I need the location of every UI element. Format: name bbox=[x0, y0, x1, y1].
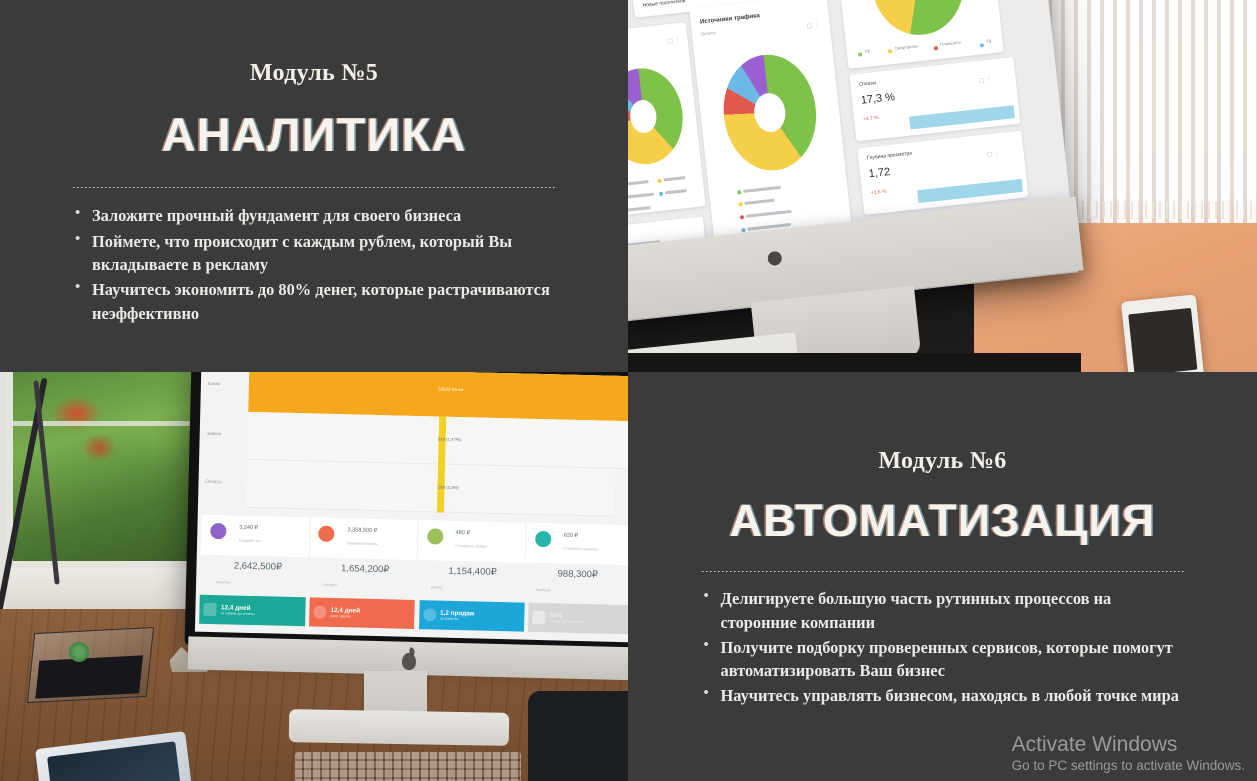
coin-icon bbox=[423, 608, 436, 621]
list-item: Получите подборку проверенных сервисов, … bbox=[702, 636, 1184, 683]
metric-delta: +1,6 % bbox=[870, 188, 886, 196]
module-panel-automation: Модуль №6 АВТОМАТИЗАЦИЯ Делигируете боль… bbox=[628, 372, 1257, 781]
module-bullet-list: Делигируете большую часть рутинных проце… bbox=[702, 587, 1184, 709]
watermark-title: Activate Windows bbox=[1012, 732, 1245, 758]
stat-tile-caption: конверсия в оплату bbox=[550, 619, 583, 624]
eye-icon bbox=[427, 528, 443, 544]
windows-activation-watermark: Activate Windows Go to PC settings to ac… bbox=[1012, 732, 1245, 773]
kebab-menu-icon[interactable]: ◻⋮ bbox=[978, 75, 994, 85]
chart-icon bbox=[204, 603, 217, 616]
total-value: 1,654,200₽ bbox=[313, 563, 418, 577]
list-item: Делигируете большую часть рутинных проце… bbox=[702, 587, 1184, 634]
total-value: 988,300₽ bbox=[525, 568, 628, 582]
clock-icon bbox=[314, 605, 327, 618]
kpi-caption: Маржинальность bbox=[347, 541, 377, 546]
legend-dot bbox=[658, 192, 662, 196]
panel-divider bbox=[702, 571, 1184, 572]
legend-dot bbox=[933, 46, 937, 50]
kpi-value: 3,358,500 ₽ bbox=[348, 527, 378, 534]
legend-label: ПК bbox=[864, 48, 870, 54]
total-value: 1,154,400₽ bbox=[420, 565, 525, 579]
stat-tile-caption: цикл сделки bbox=[331, 614, 361, 619]
imac-base bbox=[289, 710, 509, 747]
kpi-value: 3,240 ₽ bbox=[239, 525, 258, 531]
legend-dot bbox=[741, 228, 745, 232]
imac-stand bbox=[364, 671, 427, 716]
kpi-value: 620 ₽ bbox=[564, 533, 579, 539]
legend-dot bbox=[736, 189, 740, 193]
sales-dashboard: Клики 53623 клика Заявки 818 (1,47%) Опл… bbox=[195, 372, 628, 642]
legend-dot bbox=[979, 42, 983, 46]
metric-value: 1,72 bbox=[868, 165, 891, 179]
list-item: Заложите прочный фундамент для своего би… bbox=[73, 204, 555, 227]
stat-tile: 12,4 дней от заявки до оплаты bbox=[200, 594, 306, 626]
total-caption: прибыль bbox=[536, 588, 551, 592]
legend-dot bbox=[739, 215, 743, 219]
percent-icon bbox=[533, 611, 546, 624]
kpi-caption: Средний чек bbox=[239, 538, 261, 543]
total-caption: выручка bbox=[216, 580, 231, 584]
funnel-label: Клики bbox=[208, 380, 221, 385]
total-caption: затраты bbox=[324, 583, 338, 587]
photo-shadow bbox=[628, 353, 1081, 372]
legend-dot bbox=[738, 202, 742, 206]
list-item: Научитесь управлять бизнесом, находясь в… bbox=[702, 684, 1184, 707]
panel-divider bbox=[73, 187, 555, 188]
stat-tile: 12,4 дней цикл сделки bbox=[309, 597, 415, 629]
kpi-value: 480 ₽ bbox=[456, 530, 471, 536]
list-item: Поймете, что происходит с каждым рублем,… bbox=[73, 230, 555, 277]
module-title: АВТОМАТИЗАЦИЯ bbox=[729, 497, 1155, 544]
stat-tile: 54% конверсия в оплату bbox=[529, 602, 628, 634]
stat-tile: 1,2 продаж на клиента bbox=[419, 600, 525, 632]
module-number-label: Модуль №5 bbox=[250, 60, 378, 87]
kebab-menu-icon[interactable]: ◻⋮ bbox=[806, 20, 822, 30]
total-caption: маржа bbox=[431, 585, 443, 589]
succulent-plant bbox=[69, 642, 89, 662]
funnel-label: Оплаты bbox=[206, 479, 223, 484]
glass-terrarium bbox=[27, 627, 154, 703]
kebab-menu-icon[interactable]: ◻⋮ bbox=[667, 35, 683, 45]
metric-delta: +4,7 % bbox=[862, 115, 878, 123]
list-item: Научитесь экономить до 80% денег, которы… bbox=[73, 278, 555, 325]
funnel-label: Заявки bbox=[207, 431, 222, 436]
presentation-slide: Модуль №5 АНАЛИТИКА Заложите прочный фун… bbox=[0, 0, 1257, 781]
legend-dot bbox=[888, 49, 892, 53]
iphone bbox=[1121, 294, 1205, 372]
module-bullet-list: Заложите прочный фундамент для своего би… bbox=[73, 204, 555, 326]
legend-label: ТВ bbox=[986, 38, 992, 44]
apple-logo-icon bbox=[402, 653, 416, 670]
photo-imac-analytics: Новые посетители 01.10.16 ◻⋮ bbox=[628, 0, 1257, 372]
kpi-caption: Стоимость заявки bbox=[456, 543, 488, 548]
module-title: АНАЛИТИКА bbox=[161, 110, 466, 159]
watermark-subtitle: Go to PC settings to activate Windows. bbox=[1012, 758, 1245, 773]
module-panel-analytics: Модуль №5 АНАЛИТИКА Заложите прочный фун… bbox=[0, 0, 628, 372]
legend-dot bbox=[657, 179, 661, 183]
total-value: 2,642,500₽ bbox=[206, 560, 311, 574]
module-number-label: Модуль №6 bbox=[878, 448, 1006, 475]
kebab-menu-icon[interactable]: ◻⋮ bbox=[986, 148, 1002, 158]
kpi-caption: Стоимость клиента bbox=[564, 546, 598, 551]
stat-tile-caption: от заявки до оплаты bbox=[221, 611, 255, 616]
keyboard bbox=[295, 752, 521, 781]
chair bbox=[528, 691, 628, 781]
imac-display: Клики 53623 клика Заявки 818 (1,47%) Опл… bbox=[185, 372, 628, 656]
stat-tile-caption: на клиента bbox=[440, 616, 474, 621]
photo-desk-dashboard: Клики 53623 клика Заявки 818 (1,47%) Опл… bbox=[0, 372, 628, 781]
